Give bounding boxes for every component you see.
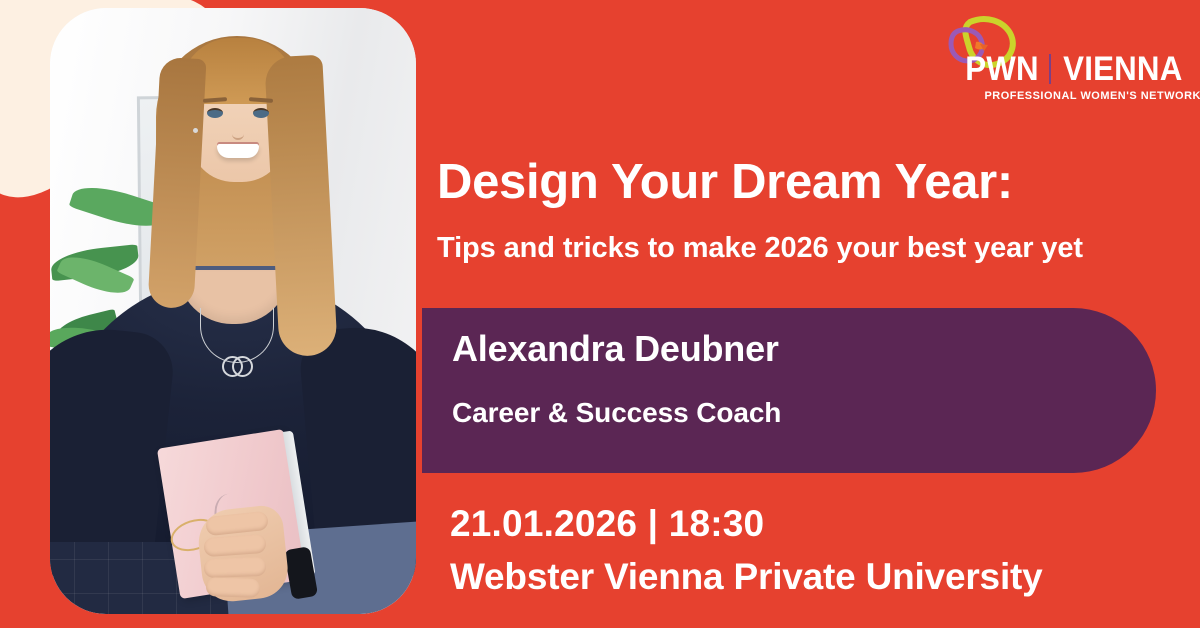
necklace-ring — [232, 356, 253, 377]
smile — [217, 144, 259, 158]
finger — [204, 557, 267, 578]
logo-brand-text: PWN — [966, 52, 1040, 86]
speaker-role: Career & Success Coach — [452, 397, 781, 429]
logo-divider — [1049, 54, 1051, 84]
speaker-photo — [50, 8, 416, 614]
logo-tagline: PROFESSIONAL WOMEN'S NETWORK — [984, 90, 1188, 102]
event-venue: Webster Vienna Private University — [450, 556, 1043, 598]
page-subtitle: Tips and tricks to make 2026 your best y… — [437, 232, 1083, 265]
speaker-card: Alexandra Deubner Career & Success Coach — [422, 308, 1156, 473]
speaker-name: Alexandra Deubner — [452, 328, 779, 370]
logo-chapter-text: VIENNA — [1064, 52, 1183, 86]
event-banner: PWN VIENNA PROFESSIONAL WOMEN'S NETWORK … — [0, 0, 1200, 628]
eye — [253, 108, 269, 118]
page-title: Design Your Dream Year: — [437, 158, 1013, 208]
event-datetime: 21.01.2026 | 18:30 — [450, 503, 764, 545]
nose — [232, 120, 244, 140]
pwn-vienna-logo[interactable]: PWN VIENNA PROFESSIONAL WOMEN'S NETWORK — [920, 14, 1188, 110]
finger — [206, 577, 261, 598]
earring — [193, 128, 198, 133]
eye — [207, 108, 223, 118]
logo-wordmark: PWN VIENNA PROFESSIONAL WOMEN'S NETWORK — [976, 52, 1188, 102]
